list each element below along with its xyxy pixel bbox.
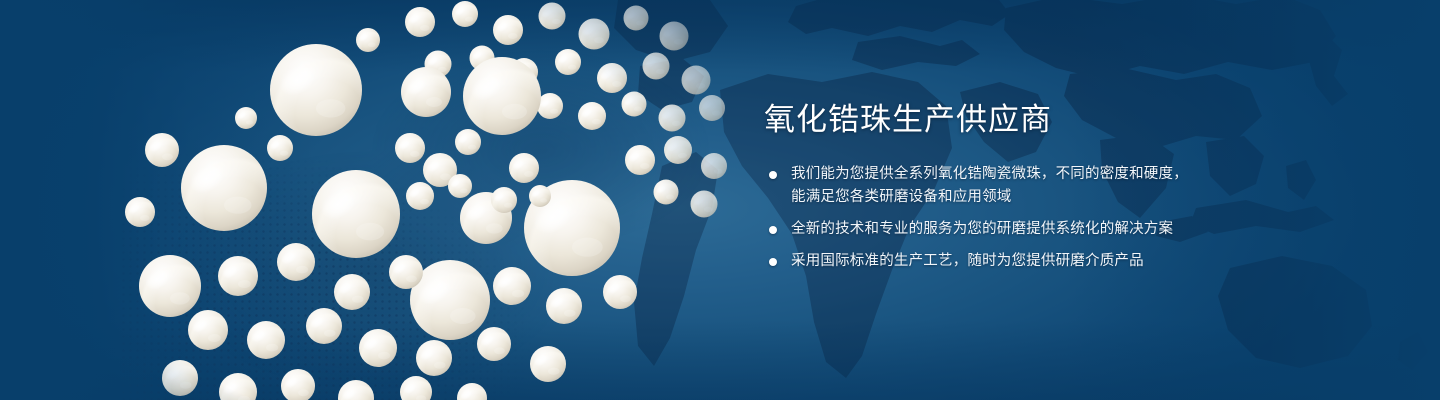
bullet-text-line2: 能满足您各类研磨设备和应用领域 [791,186,1284,209]
hero-banner: 氧化锆珠生产供应商 我们能为您提供全系列氧化锆陶瓷微珠，不同的密度和硬度， 能满… [0,0,1440,400]
banner-headline: 氧化锆珠生产供应商 [764,104,1284,137]
bullet-dot-icon [769,171,777,179]
bullet-text-line1: 我们能为您提供全系列氧化锆陶瓷微珠，不同的密度和硬度， [791,166,1188,182]
bullet-item: 采用国际标准的生产工艺，随时为您提供研磨介质产品 [764,250,1284,273]
banner-text-block: 氧化锆珠生产供应商 我们能为您提供全系列氧化锆陶瓷微珠，不同的密度和硬度， 能满… [764,104,1284,273]
bullet-dot-icon [769,226,777,234]
bullet-text-line1: 全新的技术和专业的服务为您的研磨提供系统化的解决方案 [791,221,1173,237]
bullet-item: 我们能为您提供全系列氧化锆陶瓷微珠，不同的密度和硬度， 能满足您各类研磨设备和应… [764,163,1284,209]
banner-bullet-list: 我们能为您提供全系列氧化锆陶瓷微珠，不同的密度和硬度， 能满足您各类研磨设备和应… [764,163,1284,273]
bullet-text-line1: 采用国际标准的生产工艺，随时为您提供研磨介质产品 [791,253,1144,269]
bullet-dot-icon [769,258,777,266]
bullet-item: 全新的技术和专业的服务为您的研磨提供系统化的解决方案 [764,218,1284,241]
zirconia-beads-photo [120,0,740,400]
